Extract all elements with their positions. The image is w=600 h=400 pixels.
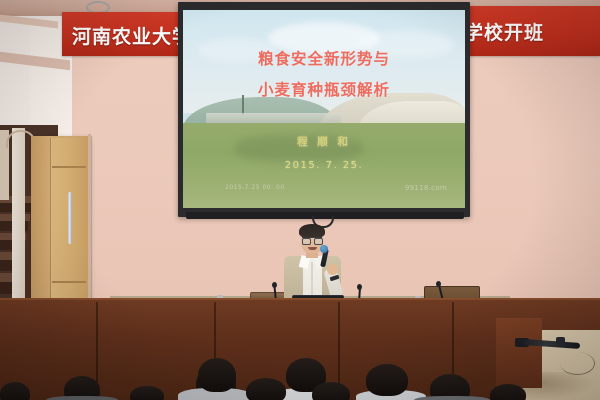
glasses-icon — [302, 237, 322, 244]
glasses-lens-left — [302, 238, 311, 245]
projection-screen-frame: 粮食安全新形势与 小麦育种瓶颈解析 程 顺 和 2015. 7. 25. 201… — [178, 2, 470, 217]
audience-head — [130, 386, 164, 400]
microphone-stand-knob[interactable] — [556, 337, 565, 347]
door-jamb — [12, 128, 25, 308]
wall-edge-line — [91, 136, 92, 306]
lecture-hall-photo: 河南农业大学河 期学校开班 粮食安全新形势与 小麦育种瓶颈解析 程 顺 和 20… — [0, 0, 600, 400]
speaker-hand — [327, 264, 338, 275]
audience-head — [312, 382, 350, 400]
speaker-hair — [299, 224, 325, 238]
slide-title-line2: 小麦育种瓶颈解析 — [183, 78, 465, 100]
door-groove — [52, 166, 86, 168]
projection-screen: 粮食安全新形势与 小麦育种瓶颈解析 程 顺 和 2015. 7. 25. 201… — [183, 10, 465, 208]
audience-head — [490, 384, 526, 400]
audience-shoulders — [414, 396, 490, 400]
banner-left: 河南农业大学河 — [62, 12, 194, 56]
desk-microphone-head — [436, 281, 441, 287]
slide-date: 2015. 7. 25. — [183, 160, 465, 171]
microphone-head-icon — [320, 245, 328, 253]
banner-right: 期学校开班 — [450, 6, 600, 56]
door-handle[interactable] — [68, 192, 72, 244]
stage-side-block — [496, 318, 542, 388]
floor-cable — [560, 352, 595, 375]
slide-title-line1: 粮食安全新形势与 — [183, 47, 465, 69]
desk-microphone-head — [357, 284, 362, 290]
audience-head — [366, 364, 408, 396]
audience-head — [246, 378, 286, 400]
glasses-lens-right — [314, 238, 323, 245]
slide-camera-timestamp: 2015.7.25 00: 00 — [225, 184, 285, 191]
slide-author: 程 顺 和 — [183, 134, 465, 149]
slide-photo-buildings — [206, 113, 341, 123]
audience-head — [198, 358, 236, 392]
slide-watermark: 99118.com — [405, 184, 447, 192]
door-groove — [52, 281, 86, 283]
audience-head — [0, 382, 30, 400]
audience-shoulders — [46, 396, 118, 400]
desk-microphone-head — [272, 282, 277, 288]
